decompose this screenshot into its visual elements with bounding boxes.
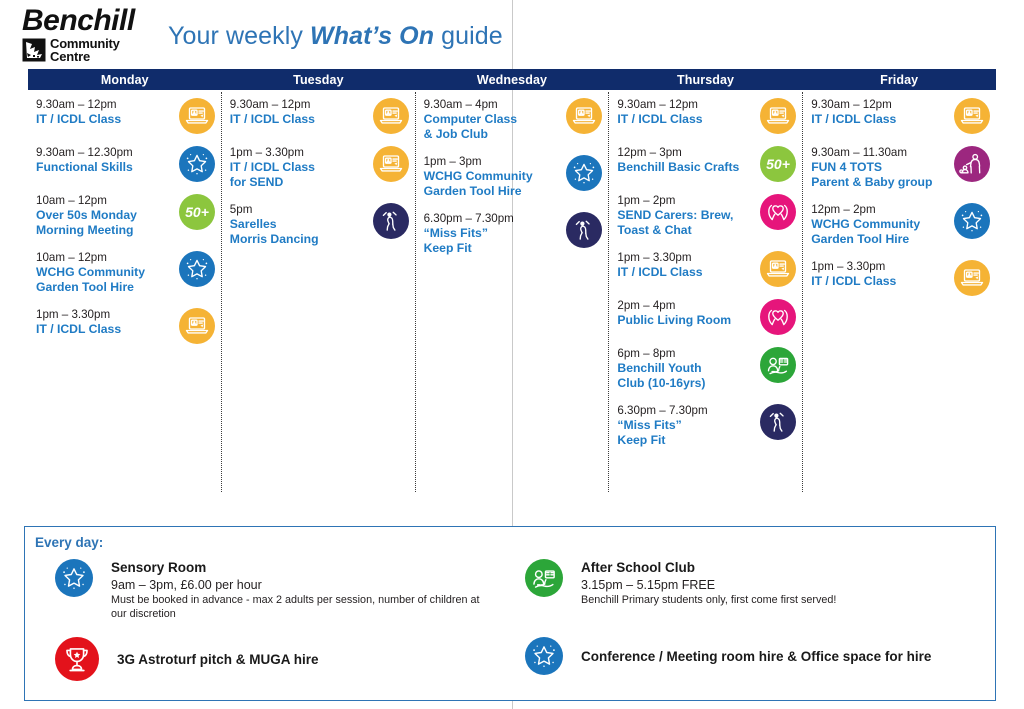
event-name-line: Garden Tool Hire — [811, 232, 946, 247]
trophy-icon — [55, 637, 99, 681]
event-item[interactable]: 1pm – 3pmWCHG CommunityGarden Tool Hire — [424, 155, 605, 198]
event-time: 12pm – 3pm — [617, 146, 752, 160]
event-item[interactable]: 1pm – 3.30pmIT / ICDL Classfor SEND — [230, 146, 411, 189]
event-time: 1pm – 3pm — [424, 155, 559, 169]
event-name-line: Benchill Youth — [617, 361, 752, 376]
event-item[interactable]: 1pm – 3.30pmIT / ICDL Class — [36, 308, 217, 342]
event-name: SEND Carers: Brew,Toast & Chat — [617, 208, 752, 237]
computer-class-icon — [179, 308, 215, 344]
parent-and-baby-icon — [954, 146, 990, 182]
every-day-item[interactable]: After School Club3.15pm – 5.15pm FREEBen… — [525, 559, 836, 608]
event-name-line: Keep Fit — [617, 433, 752, 448]
event-name: IT / ICDL Class — [617, 265, 752, 280]
event-time: 5pm — [230, 203, 365, 217]
every-day-item-note: Must be booked in advance - max 2 adults… — [111, 594, 491, 621]
event-name-line: Club (10-16yrs) — [617, 376, 752, 391]
youth-club-icon — [760, 347, 796, 383]
day-header-monday: Monday — [28, 69, 222, 90]
event-name-line: WCHG Community — [36, 265, 171, 280]
event-name-line: IT / ICDL Class — [230, 112, 365, 127]
event-name: IT / ICDL Class — [617, 112, 752, 127]
event-name-line: Benchill Basic Crafts — [617, 160, 752, 175]
event-time: 9.30am – 4pm — [424, 98, 559, 112]
event-name: IT / ICDL Class — [36, 322, 171, 337]
fifty-plus-icon: 50+ — [179, 194, 215, 230]
dancing-figure-icon — [373, 203, 409, 239]
event-item[interactable]: 9.30am – 12pmIT / ICDL Class — [230, 98, 411, 132]
event-name-line: Over 50s Monday — [36, 208, 171, 223]
event-name: WCHG CommunityGarden Tool Hire — [36, 265, 171, 294]
day-column-thursday: 9.30am – 12pmIT / ICDL Class 12pm – 3pmB… — [608, 92, 802, 492]
event-name-line: Sarelles — [230, 217, 365, 232]
event-time: 9.30am – 12pm — [36, 98, 171, 112]
event-name: WCHG CommunityGarden Tool Hire — [811, 217, 946, 246]
event-name-line: IT / ICDL Class — [617, 265, 752, 280]
event-item[interactable]: 1pm – 3.30pmIT / ICDL Class — [811, 260, 992, 294]
event-time: 1pm – 3.30pm — [617, 251, 752, 265]
every-day-item[interactable]: Sensory Room9am – 3pm, £6.00 per hourMus… — [55, 559, 491, 621]
page-title-emphasis: What’s On — [310, 22, 434, 50]
event-name: “Miss Fits”Keep Fit — [617, 418, 752, 447]
day-header-thursday: Thursday — [609, 69, 803, 90]
star-room-icon — [179, 146, 215, 182]
every-day-item-heading: Sensory Room — [111, 559, 491, 576]
event-item[interactable]: 9.30am – 4pmComputer Class& Job Club — [424, 98, 605, 141]
schedule-grid: 9.30am – 12pmIT / ICDL Class 9.30am – 12… — [28, 92, 996, 492]
svg-text:50+: 50+ — [185, 204, 209, 220]
every-day-item[interactable]: Conference / Meeting room hire & Office … — [525, 637, 931, 675]
computer-class-icon — [760, 251, 796, 287]
event-name-line: Keep Fit — [424, 241, 559, 256]
event-time: 9.30am – 12pm — [230, 98, 365, 112]
event-name: Public Living Room — [617, 313, 752, 328]
event-name-line: IT / ICDL Class — [811, 112, 946, 127]
event-item[interactable]: 1pm – 3.30pmIT / ICDL Class — [617, 251, 798, 285]
event-time: 2pm – 4pm — [617, 299, 752, 313]
event-item[interactable]: 9.30am – 12pmIT / ICDL Class — [36, 98, 217, 132]
event-item[interactable]: 9.30am – 12pmIT / ICDL Class — [617, 98, 798, 132]
event-time: 9.30am – 12.30pm — [36, 146, 171, 160]
event-name-line: Parent & Baby group — [811, 175, 946, 190]
dancing-figure-icon — [760, 404, 796, 440]
day-header-bar: MondayTuesdayWednesdayThursdayFriday — [28, 69, 996, 90]
day-column-body: 9.30am – 4pmComputer Class& Job Club 1pm… — [416, 98, 609, 256]
event-name-line: Morning Meeting — [36, 223, 171, 238]
star-room-icon — [566, 155, 602, 191]
day-column-tuesday: 9.30am – 12pmIT / ICDL Class 1pm – 3.30p… — [221, 92, 415, 492]
event-time: 1pm – 3.30pm — [811, 260, 946, 274]
event-item[interactable]: 6.30pm – 7.30pm“Miss Fits”Keep Fit — [424, 212, 605, 255]
event-time: 6.30pm – 7.30pm — [617, 404, 752, 418]
event-item[interactable]: 2pm – 4pmPublic Living Room — [617, 299, 798, 333]
event-time: 6pm – 8pm — [617, 347, 752, 361]
event-item[interactable]: 9.30am – 11.30amFUN 4 TOTSParent & Baby … — [811, 146, 992, 189]
every-day-item-text: 3G Astroturf pitch & MUGA hire — [117, 651, 319, 668]
star-room-icon — [55, 559, 93, 597]
event-name: IT / ICDL Classfor SEND — [230, 160, 365, 189]
computer-class-icon — [566, 98, 602, 134]
event-time: 10am – 12pm — [36, 194, 171, 208]
fifty-plus-icon: 50+ — [760, 146, 796, 182]
event-name-line: FUN 4 TOTS — [811, 160, 946, 175]
event-name: WCHG CommunityGarden Tool Hire — [424, 169, 559, 198]
day-column-friday: 9.30am – 12pmIT / ICDL Class 9.30am – 11… — [802, 92, 996, 492]
every-day-title: Every day: — [35, 535, 103, 550]
event-item[interactable]: 10am – 12pmOver 50s MondayMorning Meetin… — [36, 194, 217, 237]
event-name: Computer Class& Job Club — [424, 112, 559, 141]
event-item[interactable]: 12pm – 3pmBenchill Basic Crafts 50+ — [617, 146, 798, 180]
event-item[interactable]: 1pm – 2pmSEND Carers: Brew,Toast & Chat — [617, 194, 798, 237]
event-name: Over 50s MondayMorning Meeting — [36, 208, 171, 237]
logo-subtext-line2: Centre — [50, 49, 90, 64]
event-name: Benchill Basic Crafts — [617, 160, 752, 175]
computer-class-icon — [373, 98, 409, 134]
event-name-line: IT / ICDL Class — [811, 274, 946, 289]
event-name: SarellesMorris Dancing — [230, 217, 365, 246]
day-header-tuesday: Tuesday — [222, 69, 416, 90]
every-day-item-heading: Conference / Meeting room hire & Office … — [581, 648, 931, 665]
event-name: IT / ICDL Class — [230, 112, 365, 127]
day-column-body: 9.30am – 12pmIT / ICDL Class 9.30am – 12… — [28, 98, 221, 342]
event-name: Benchill YouthClub (10-16yrs) — [617, 361, 752, 390]
event-name-line: “Miss Fits” — [617, 418, 752, 433]
event-item[interactable]: 12pm – 2pmWCHG CommunityGarden Tool Hire — [811, 203, 992, 246]
event-name-line: Garden Tool Hire — [424, 184, 559, 199]
event-time: 1pm – 3.30pm — [36, 308, 171, 322]
event-name-line: Public Living Room — [617, 313, 752, 328]
event-name-line: Computer Class — [424, 112, 559, 127]
page-title-prefix: Your weekly — [168, 22, 310, 50]
every-day-item-heading: After School Club — [581, 559, 836, 576]
svg-text:50+: 50+ — [766, 156, 790, 172]
event-time: 10am – 12pm — [36, 251, 171, 265]
computer-class-icon — [760, 98, 796, 134]
day-column-body: 9.30am – 12pmIT / ICDL Class 9.30am – 11… — [803, 98, 996, 294]
every-day-item-text: After School Club3.15pm – 5.15pm FREEBen… — [581, 559, 836, 608]
computer-class-icon — [373, 146, 409, 182]
event-time: 6.30pm – 7.30pm — [424, 212, 559, 226]
every-day-item-heading: 3G Astroturf pitch & MUGA hire — [117, 651, 319, 668]
event-name-line: for SEND — [230, 175, 365, 190]
event-item[interactable]: 5pmSarellesMorris Dancing — [230, 203, 411, 246]
logo-subtext: Community Centre — [50, 37, 120, 63]
day-column-wednesday: 9.30am – 4pmComputer Class& Job Club 1pm… — [415, 92, 609, 492]
page-title-suffix: guide — [434, 22, 503, 50]
event-name: “Miss Fits”Keep Fit — [424, 226, 559, 255]
star-room-icon — [525, 637, 563, 675]
day-header-wednesday: Wednesday — [415, 69, 609, 90]
event-name-line: WCHG Community — [811, 217, 946, 232]
event-name-line: WCHG Community — [424, 169, 559, 184]
benchill-logo: Benchill Community Centre — [22, 6, 162, 64]
event-item[interactable]: 9.30am – 12.30pmFunctional Skills — [36, 146, 217, 180]
event-name-line: IT / ICDL Class — [36, 322, 171, 337]
day-column-body: 9.30am – 12pmIT / ICDL Class 12pm – 3pmB… — [609, 98, 802, 448]
day-column-monday: 9.30am – 12pmIT / ICDL Class 9.30am – 12… — [28, 92, 221, 492]
caring-hands-heart-icon — [760, 299, 796, 335]
event-time: 9.30am – 11.30am — [811, 146, 946, 160]
caring-hands-heart-icon — [760, 194, 796, 230]
every-day-item[interactable]: 3G Astroturf pitch & MUGA hire — [55, 637, 319, 681]
event-name: Functional Skills — [36, 160, 171, 175]
youth-club-icon — [525, 559, 563, 597]
benchill-logo-mark-icon — [22, 38, 46, 62]
event-name-line: SEND Carers: Brew, — [617, 208, 752, 223]
every-day-item-text: Conference / Meeting room hire & Office … — [581, 648, 931, 665]
every-day-item-note: Benchill Primary students only, first co… — [581, 594, 836, 608]
event-name: IT / ICDL Class — [811, 112, 946, 127]
event-name: IT / ICDL Class — [36, 112, 171, 127]
logo-wordmark: Benchill — [22, 6, 162, 36]
every-day-item-subtitle: 3.15pm – 5.15pm FREE — [581, 577, 836, 593]
event-item[interactable]: 6pm – 8pmBenchill YouthClub (10-16yrs) — [617, 347, 798, 390]
star-room-icon — [954, 203, 990, 239]
event-name-line: Toast & Chat — [617, 223, 752, 238]
star-room-icon — [179, 251, 215, 287]
day-column-body: 9.30am – 12pmIT / ICDL Class 1pm – 3.30p… — [222, 98, 415, 246]
event-name-line: Morris Dancing — [230, 232, 365, 247]
event-name: IT / ICDL Class — [811, 274, 946, 289]
event-time: 12pm – 2pm — [811, 203, 946, 217]
event-name-line: “Miss Fits” — [424, 226, 559, 241]
event-time: 9.30am – 12pm — [617, 98, 752, 112]
event-name-line: Garden Tool Hire — [36, 280, 171, 295]
every-day-item-subtitle: 9am – 3pm, £6.00 per hour — [111, 577, 491, 593]
every-day-panel: Every day: Sensory Room9am – 3pm, £6.00 … — [24, 526, 996, 701]
event-name-line: IT / ICDL Class — [230, 160, 365, 175]
event-time: 9.30am – 12pm — [811, 98, 946, 112]
event-name-line: & Job Club — [424, 127, 559, 142]
event-time: 1pm – 3.30pm — [230, 146, 365, 160]
day-header-friday: Friday — [802, 69, 996, 90]
event-item[interactable]: 10am – 12pmWCHG CommunityGarden Tool Hir… — [36, 251, 217, 294]
every-day-item-text: Sensory Room9am – 3pm, £6.00 per hourMus… — [111, 559, 491, 621]
event-item[interactable]: 6.30pm – 7.30pm“Miss Fits”Keep Fit — [617, 404, 798, 447]
event-name-line: Functional Skills — [36, 160, 171, 175]
page-title: Your weekly What’s On guide — [168, 22, 503, 51]
event-time: 1pm – 2pm — [617, 194, 752, 208]
event-name-line: IT / ICDL Class — [36, 112, 171, 127]
dancing-figure-icon — [566, 212, 602, 248]
computer-class-icon — [954, 260, 990, 296]
event-name-line: IT / ICDL Class — [617, 112, 752, 127]
computer-class-icon — [954, 98, 990, 134]
event-name: FUN 4 TOTSParent & Baby group — [811, 160, 946, 189]
event-item[interactable]: 9.30am – 12pmIT / ICDL Class — [811, 98, 992, 132]
whats-on-poster: Benchill Community Centre Your weekly Wh… — [0, 0, 1024, 709]
computer-class-icon — [179, 98, 215, 134]
